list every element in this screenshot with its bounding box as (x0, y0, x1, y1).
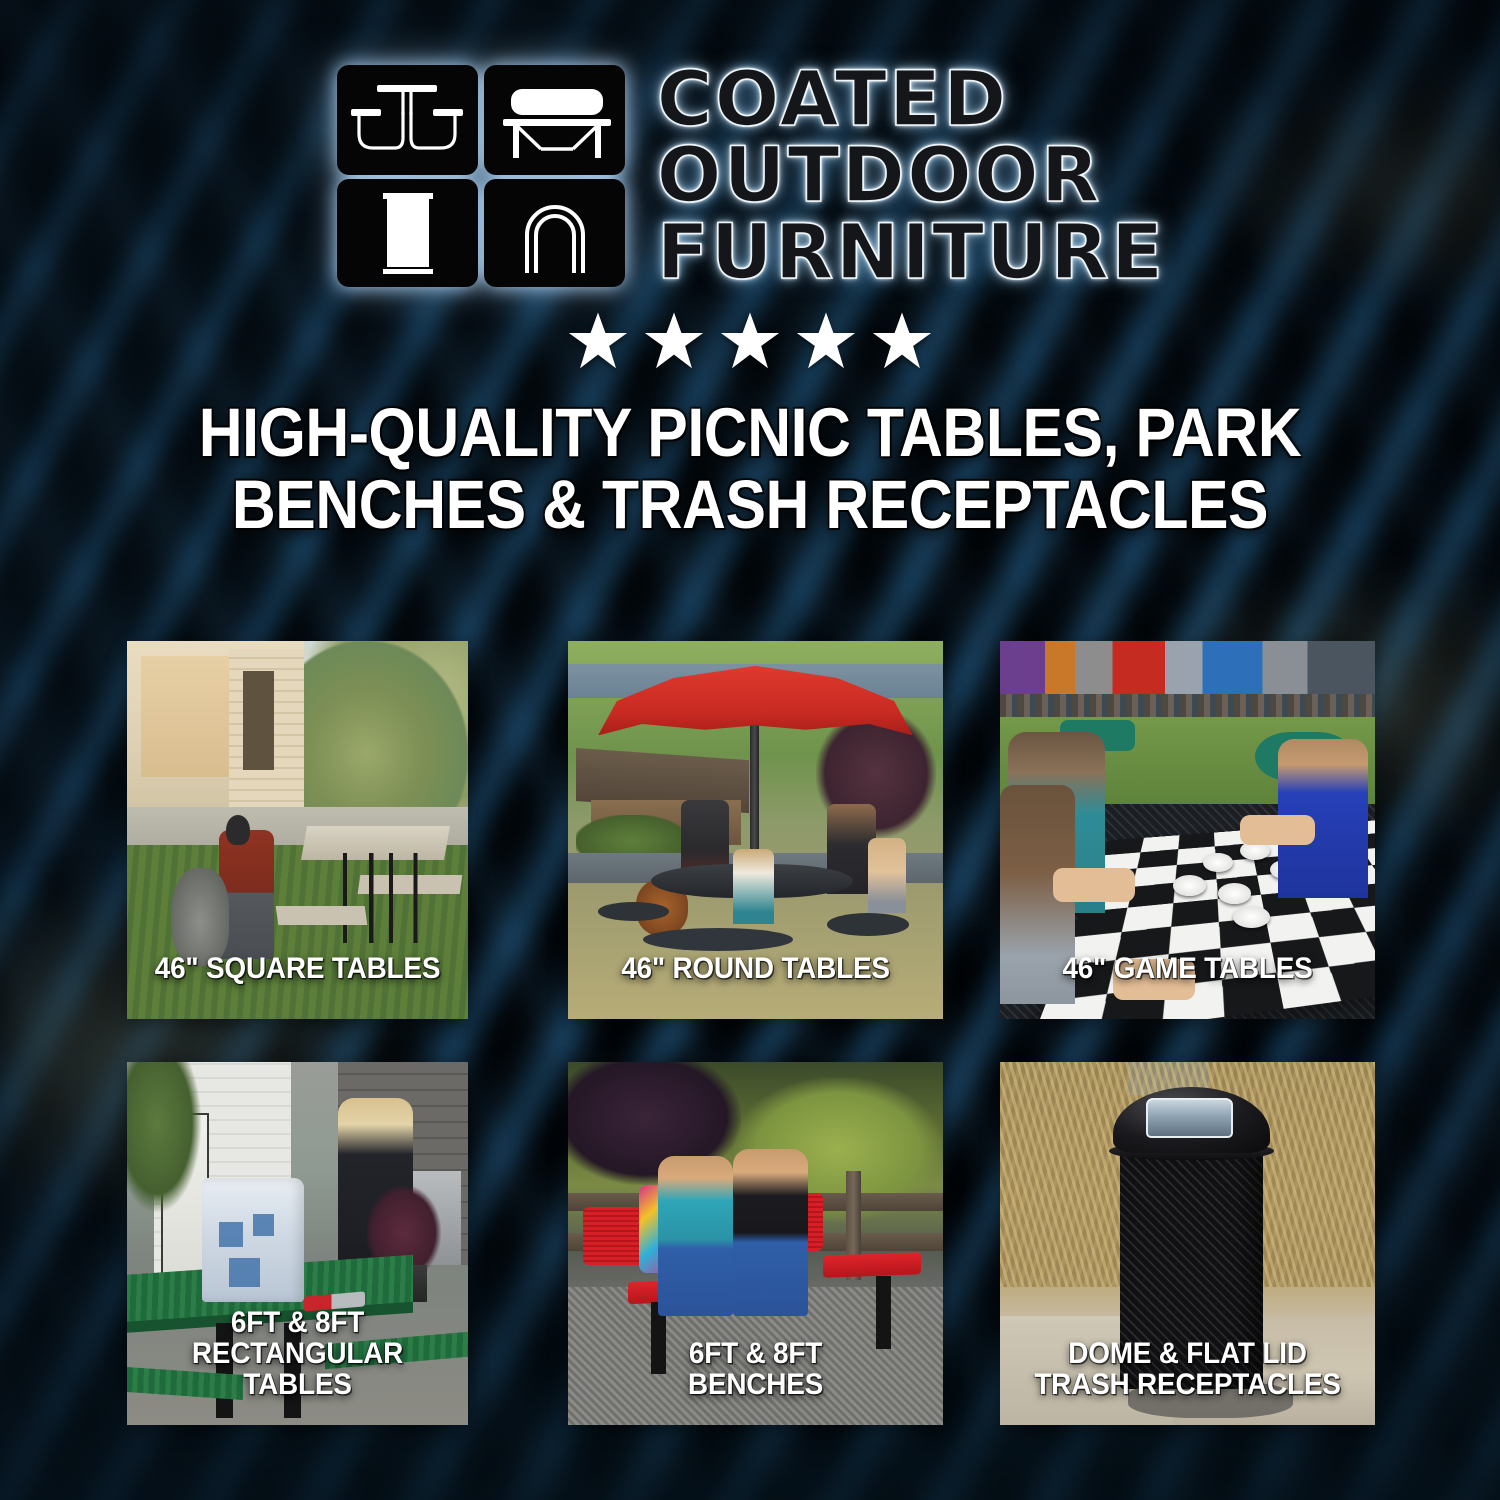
product-tile-benches[interactable]: 6FT & 8FT BENCHES (568, 1062, 943, 1425)
caption-line-2: BENCHES (581, 1370, 930, 1401)
product-grid-row-top: 46" SQUARE TABLES 46" ROUND TABLE (127, 641, 1375, 1019)
wordmark-line-coated: COATED (657, 62, 1166, 136)
caption-line-1: 46" GAME TABLES (1013, 954, 1362, 985)
wordmark-line-outdoor: OUTDOOR (657, 138, 1166, 212)
caption-line-1: 6FT & 8FT (581, 1339, 930, 1370)
product-tile-round-tables[interactable]: 46" ROUND TABLES (568, 641, 943, 1019)
product-caption-round-tables: 46" ROUND TABLES (581, 954, 930, 985)
product-caption-benches: 6FT & 8FT BENCHES (581, 1339, 930, 1401)
star-rating (0, 311, 1500, 371)
product-tile-trash-receptacles[interactable]: DOME & FLAT LID TRASH RECEPTACLES (1000, 1062, 1375, 1425)
caption-line-1: DOME & FLAT LID (1013, 1339, 1362, 1370)
page-title: HIGH-QUALITY PICNIC TABLES, PARK BENCHES… (90, 397, 1410, 541)
brand-wordmark: COATED OUTDOOR FURNITURE (657, 62, 1166, 289)
headline-line-1: HIGH-QUALITY PICNIC TABLES, PARK (90, 397, 1410, 469)
product-tile-rectangular-tables[interactable]: 6FT & 8FT RECTANGULAR TABLES (127, 1062, 468, 1425)
coated-outdoor-furniture-logo (335, 63, 627, 289)
product-caption-rectangular-tables: 6FT & 8FT RECTANGULAR TABLES (139, 1308, 456, 1401)
brand-header: COATED OUTDOOR FURNITURE (0, 0, 1500, 289)
product-grid-row-bottom: 6FT & 8FT RECTANGULAR TABLES 6FT & (127, 1062, 1375, 1425)
product-caption-trash-receptacles: DOME & FLAT LID TRASH RECEPTACLES (1013, 1339, 1362, 1401)
star-icon (795, 311, 857, 371)
caption-line-1: 46" ROUND TABLES (581, 954, 930, 985)
wordmark-line-furniture: FURNITURE (657, 215, 1166, 289)
product-tile-game-tables[interactable]: 46" GAME TABLES (1000, 641, 1375, 1019)
promo-banner: COATED OUTDOOR FURNITURE HIGH-QUALITY PI… (0, 0, 1500, 1500)
product-caption-game-tables: 46" GAME TABLES (1013, 954, 1362, 985)
caption-line-1: 6FT & 8FT (139, 1308, 456, 1339)
star-icon (871, 311, 933, 371)
star-icon (719, 311, 781, 371)
caption-line-2: TRASH RECEPTACLES (1013, 1370, 1362, 1401)
caption-line-2: RECTANGULAR TABLES (139, 1339, 456, 1401)
trash-receptacle-icon (383, 193, 433, 274)
caption-line-1: 46" SQUARE TABLES (139, 954, 456, 985)
product-caption-square-tables: 46" SQUARE TABLES (139, 954, 456, 985)
star-icon (643, 311, 705, 371)
product-tile-square-tables[interactable]: 46" SQUARE TABLES (127, 641, 468, 1019)
star-icon (567, 311, 629, 371)
product-grid: 46" SQUARE TABLES 46" ROUND TABLE (127, 641, 1375, 1425)
headline-line-2: BENCHES & TRASH RECEPTACLES (90, 469, 1410, 541)
